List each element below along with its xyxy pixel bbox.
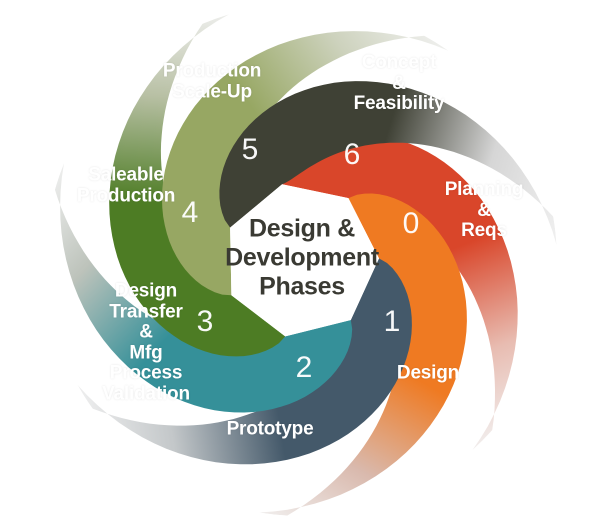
phase-number-3: 3	[197, 307, 214, 337]
phase-number-6: 6	[344, 140, 361, 170]
center-title: Design & Development Phases	[212, 215, 392, 302]
phase-number-5: 5	[242, 135, 259, 165]
phase-number-4: 4	[182, 198, 199, 228]
phase-number-1: 1	[384, 307, 401, 337]
phase-number-0: 0	[403, 209, 420, 239]
phase-number-2: 2	[296, 353, 313, 383]
diagram-canvas: Concept & Feasibility 0 Planning & Reqs …	[0, 0, 600, 517]
